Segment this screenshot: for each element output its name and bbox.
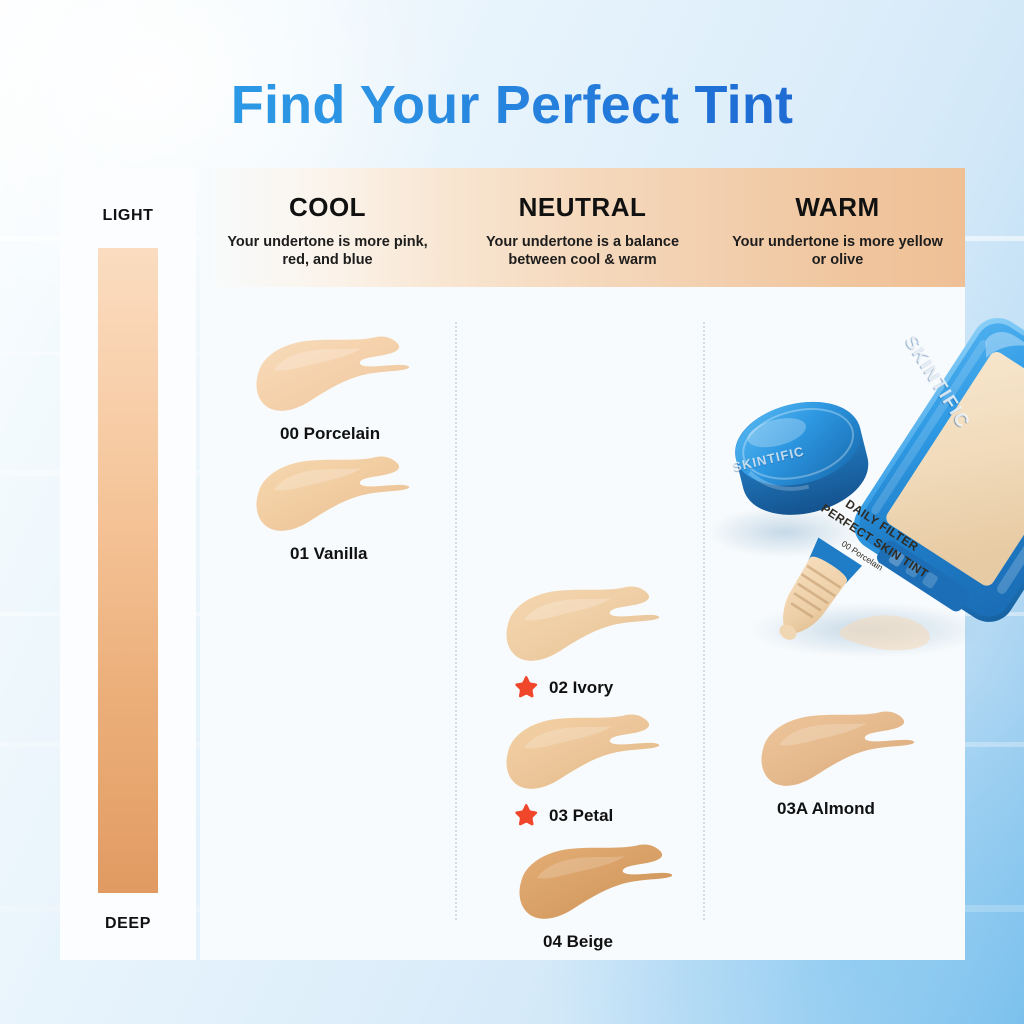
shade-finder-infographic: Find Your Perfect Tint COOL Your underto… <box>0 0 1024 1024</box>
column-subtitle-warm: Your undertone is more yellow or olive <box>730 233 945 269</box>
shade-caption-04-beige: 04 Beige <box>543 932 680 952</box>
column-header-neutral: NEUTRAL Your undertone is a balance betw… <box>455 168 710 287</box>
shade-swatch-00-porcelain <box>252 330 417 420</box>
shade-item-03a-almond[interactable]: 03A Almond <box>757 705 922 819</box>
column-title-warm: WARM <box>795 192 879 223</box>
shade-caption-03a-almond: 03A Almond <box>777 799 922 819</box>
undertone-header-band: COOL Your undertone is more pink, red, a… <box>200 168 965 287</box>
column-header-cool: COOL Your undertone is more pink, red, a… <box>200 168 455 287</box>
shade-item-04-beige[interactable]: 04 Beige <box>515 838 680 952</box>
shade-item-01-vanilla[interactable]: 01 Vanilla <box>252 450 417 564</box>
column-title-cool: COOL <box>289 192 366 223</box>
column-subtitle-cool: Your undertone is more pink, red, and bl… <box>220 233 435 269</box>
shade-item-02-ivory[interactable]: 02 Ivory <box>502 580 667 702</box>
star-icon <box>512 802 540 830</box>
page-title: Find Your Perfect Tint <box>0 74 1024 136</box>
shade-depth-gradient-bar <box>98 248 158 893</box>
shade-caption-00-porcelain: 00 Porcelain <box>280 424 417 444</box>
shade-name-03-petal: 03 Petal <box>549 806 613 826</box>
shade-item-03-petal[interactable]: 03 Petal <box>502 708 667 830</box>
shade-caption-03-petal: 03 Petal <box>512 802 667 830</box>
shade-name-04-beige: 04 Beige <box>543 932 613 952</box>
column-subtitle-neutral: Your undertone is a balance between cool… <box>475 233 690 269</box>
shade-swatch-04-beige <box>515 838 680 928</box>
shade-name-00-porcelain: 00 Porcelain <box>280 424 380 444</box>
column-divider-cool-neutral <box>455 322 457 920</box>
shade-swatch-03a-almond <box>757 705 922 795</box>
shade-swatch-02-ivory <box>502 580 667 670</box>
shade-name-01-vanilla: 01 Vanilla <box>290 544 368 564</box>
shade-item-00-porcelain[interactable]: 00 Porcelain <box>252 330 417 444</box>
shade-caption-01-vanilla: 01 Vanilla <box>290 544 417 564</box>
shade-name-03a-almond: 03A Almond <box>777 799 875 819</box>
column-title-neutral: NEUTRAL <box>519 192 647 223</box>
shade-swatch-01-vanilla <box>252 450 417 540</box>
shade-caption-02-ivory: 02 Ivory <box>512 674 667 702</box>
shade-swatch-03-petal <box>502 708 667 798</box>
scale-label-light: LIGHT <box>60 207 196 225</box>
shade-name-02-ivory: 02 Ivory <box>549 678 613 698</box>
scale-label-deep: DEEP <box>60 915 196 933</box>
column-divider-neutral-warm <box>703 322 705 920</box>
star-icon <box>512 674 540 702</box>
column-header-warm: WARM Your undertone is more yellow or ol… <box>710 168 965 287</box>
